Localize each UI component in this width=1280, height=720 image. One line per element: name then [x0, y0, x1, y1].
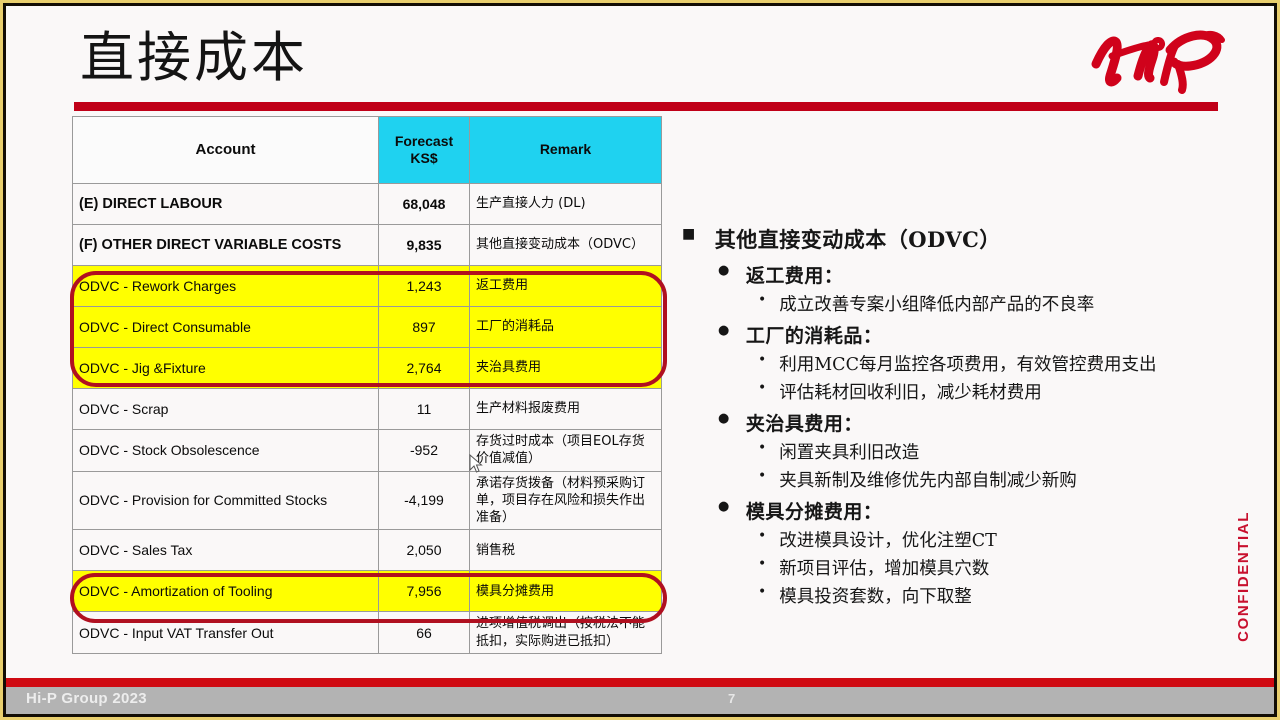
notes-item-text: 夹具新制及维修优先内部自制减少新购 — [779, 467, 1077, 492]
notes-panel: ■ 其他直接变动成本（ODVC） ●返工费用：•成立改善专案小组降低内部产品的不… — [682, 224, 1242, 610]
cell-remark: 生产材料报废费用 — [470, 389, 662, 430]
notes-group-title: ●工厂的消耗品： — [718, 321, 1242, 348]
dot-bullet-icon: • — [758, 291, 766, 310]
notes-item-text: 成立改善专案小组降低内部产品的不良率 — [779, 291, 1094, 316]
cell-remark: 生产直接人力 (DL) — [470, 184, 662, 225]
col-header-forecast-line1: Forecast — [395, 133, 453, 149]
cell-account: ODVC - Provision for Committed Stocks — [73, 471, 379, 530]
notes-item-text: 利用MCC每月监控各项费用，有效管控费用支出 — [779, 351, 1156, 376]
circle-bullet-icon: ● — [718, 261, 730, 281]
notes-group-title: ●夹治具费用： — [718, 409, 1242, 436]
notes-group-title-text: 夹治具费用： — [746, 409, 863, 436]
notes-item-text: 新项目评估，增加模具穴数 — [779, 555, 989, 580]
notes-group-title: ●模具分摊费用： — [718, 497, 1242, 524]
cell-account: ODVC - Jig &Fixture — [73, 348, 379, 389]
cell-remark: 夹治具费用 — [470, 348, 662, 389]
cell-forecast: 9,835 — [379, 225, 470, 266]
table-row: ODVC - Sales Tax2,050销售税 — [73, 530, 662, 571]
slide-footer: Hi-P Group 2023 7 — [6, 678, 1274, 714]
remark-text: 生产直接人力 (DL) — [476, 196, 586, 211]
notes-group-title-text: 模具分摊费用： — [746, 497, 883, 524]
remark-text: 承诺存货拨备（材料预采购订单，项目存在风险和损失作出准备） — [476, 476, 645, 526]
square-bullet-icon: ■ — [682, 224, 696, 244]
cell-account: ODVC - Stock Obsolescence — [73, 430, 379, 472]
circle-bullet-icon: ● — [718, 409, 730, 429]
remark-text: 工厂的消耗品 — [476, 319, 554, 334]
table-row: (F) OTHER DIRECT VARIABLE COSTS9,835其他直接… — [73, 225, 662, 266]
cell-forecast: 897 — [379, 307, 470, 348]
cell-forecast: 1,243 — [379, 266, 470, 307]
page-number: 7 — [728, 691, 735, 706]
circle-bullet-icon: ● — [718, 321, 730, 341]
table-row: ODVC - Jig &Fixture2,764夹治具费用 — [73, 348, 662, 389]
table-row: ODVC - Rework Charges1,243返工费用 — [73, 266, 662, 307]
table-row: ODVC - Input VAT Transfer Out66进项增值税调出（按… — [73, 612, 662, 654]
cell-forecast: -4,199 — [379, 471, 470, 530]
cell-account: ODVC - Direct Consumable — [73, 307, 379, 348]
notes-heading: ■ 其他直接变动成本（ODVC） — [682, 224, 1242, 254]
table-row: ODVC - Amortization of Tooling7,956模具分摊费… — [73, 571, 662, 612]
remark-text: 进项增值税调出（按税法不能抵扣，实际购进已抵扣） — [476, 616, 645, 648]
mouse-cursor — [469, 454, 483, 474]
cell-forecast: 68,048 — [379, 184, 470, 225]
notes-item: •夹具新制及维修优先内部自制减少新购 — [758, 467, 1242, 492]
col-header-forecast-line2: KS$ — [410, 150, 437, 166]
cell-remark: 承诺存货拨备（材料预采购订单，项目存在风险和损失作出准备） — [470, 471, 662, 530]
col-header-remark: Remark — [470, 117, 662, 184]
cell-remark: 存货过时成本（项目EOL存货价值减值） — [470, 430, 662, 472]
footer-copyright: Hi-P Group 2023 — [26, 690, 147, 707]
notes-item: •新项目评估，增加模具穴数 — [758, 555, 1242, 580]
dot-bullet-icon: • — [758, 379, 766, 398]
cell-forecast: 2,050 — [379, 530, 470, 571]
notes-item: •闲置夹具利旧改造 — [758, 439, 1242, 464]
notes-heading-text: 其他直接变动成本（ODVC） — [715, 224, 1001, 254]
cell-account: ODVC - Sales Tax — [73, 530, 379, 571]
direct-cost-table: Account Forecast KS$ Remark (E) DIRECT L… — [72, 116, 662, 654]
cell-forecast: 7,956 — [379, 571, 470, 612]
notes-group-title: ●返工费用： — [718, 261, 1242, 288]
cell-account: ODVC - Rework Charges — [73, 266, 379, 307]
notes-groups: ●返工费用：•成立改善专案小组降低内部产品的不良率●工厂的消耗品：•利用MCC每… — [682, 261, 1242, 608]
table-header-row: Account Forecast KS$ Remark — [73, 117, 662, 184]
footer-gray-bar — [6, 687, 1274, 714]
slide-frame: 直接成本 Account Forecast — [0, 0, 1280, 720]
cell-forecast: 11 — [379, 389, 470, 430]
remark-text: 夹治具费用 — [476, 360, 541, 375]
notes-group-title-text: 返工费用： — [746, 261, 844, 288]
dot-bullet-icon: • — [758, 467, 766, 486]
col-header-account: Account — [73, 117, 379, 184]
cell-forecast: -952 — [379, 430, 470, 472]
cell-remark: 工厂的消耗品 — [470, 307, 662, 348]
notes-item-text: 闲置夹具利旧改造 — [779, 439, 919, 464]
notes-item: •利用MCC每月监控各项费用，有效管控费用支出 — [758, 351, 1242, 376]
remark-text: 生产材料报废费用 — [476, 401, 580, 416]
col-header-forecast: Forecast KS$ — [379, 117, 470, 184]
remark-text: 模具分摊费用 — [476, 584, 554, 599]
cell-remark: 进项增值税调出（按税法不能抵扣，实际购进已抵扣） — [470, 612, 662, 654]
cell-remark: 模具分摊费用 — [470, 571, 662, 612]
table-row: ODVC - Provision for Committed Stocks-4,… — [73, 471, 662, 530]
table-row: ODVC - Scrap11生产材料报废费用 — [73, 389, 662, 430]
notes-item-text: 改进模具设计，优化注塑CT — [779, 527, 997, 552]
circle-bullet-icon: ● — [718, 497, 730, 517]
cell-account: ODVC - Scrap — [73, 389, 379, 430]
remark-text: 其他直接变动成本（ODVC） — [476, 237, 644, 252]
cell-forecast: 2,764 — [379, 348, 470, 389]
dot-bullet-icon: • — [758, 583, 766, 602]
hi-p-logo — [1086, 20, 1236, 94]
footer-red-strip — [6, 678, 1274, 687]
cell-remark: 其他直接变动成本（ODVC） — [470, 225, 662, 266]
slide-canvas: 直接成本 Account Forecast — [3, 3, 1277, 717]
cell-forecast: 66 — [379, 612, 470, 654]
remark-text: 存货过时成本（项目EOL存货价值减值） — [476, 434, 645, 466]
cell-account: (F) OTHER DIRECT VARIABLE COSTS — [73, 225, 379, 266]
notes-group-title-text: 工厂的消耗品： — [746, 321, 883, 348]
notes-item: •模具投资套数，向下取整 — [758, 583, 1242, 608]
cell-remark: 返工费用 — [470, 266, 662, 307]
cell-account: ODVC - Amortization of Tooling — [73, 571, 379, 612]
table-row: ODVC - Stock Obsolescence-952存货过时成本（项目EO… — [73, 430, 662, 472]
notes-item: •改进模具设计，优化注塑CT — [758, 527, 1242, 552]
table-row: ODVC - Direct Consumable897工厂的消耗品 — [73, 307, 662, 348]
confidential-watermark: CONFIDENTIAL — [1235, 511, 1252, 642]
cell-remark: 销售税 — [470, 530, 662, 571]
notes-item: •评估耗材回收利旧，减少耗材费用 — [758, 379, 1242, 404]
title-underline — [74, 102, 1218, 111]
notes-item: •成立改善专案小组降低内部产品的不良率 — [758, 291, 1242, 316]
cost-table-container: Account Forecast KS$ Remark (E) DIRECT L… — [72, 116, 661, 654]
notes-item-text: 模具投资套数，向下取整 — [779, 583, 972, 608]
remark-text: 返工费用 — [476, 278, 528, 293]
dot-bullet-icon: • — [758, 439, 766, 458]
dot-bullet-icon: • — [758, 351, 766, 370]
table-body: (E) DIRECT LABOUR68,048生产直接人力 (DL)(F) OT… — [73, 184, 662, 654]
cell-account: ODVC - Input VAT Transfer Out — [73, 612, 379, 654]
remark-text: 销售税 — [476, 543, 515, 558]
table-row: (E) DIRECT LABOUR68,048生产直接人力 (DL) — [73, 184, 662, 225]
notes-item-text: 评估耗材回收利旧，减少耗材费用 — [779, 379, 1042, 404]
page-title: 直接成本 — [80, 30, 308, 87]
dot-bullet-icon: • — [758, 555, 766, 574]
dot-bullet-icon: • — [758, 527, 766, 546]
cell-account: (E) DIRECT LABOUR — [73, 184, 379, 225]
